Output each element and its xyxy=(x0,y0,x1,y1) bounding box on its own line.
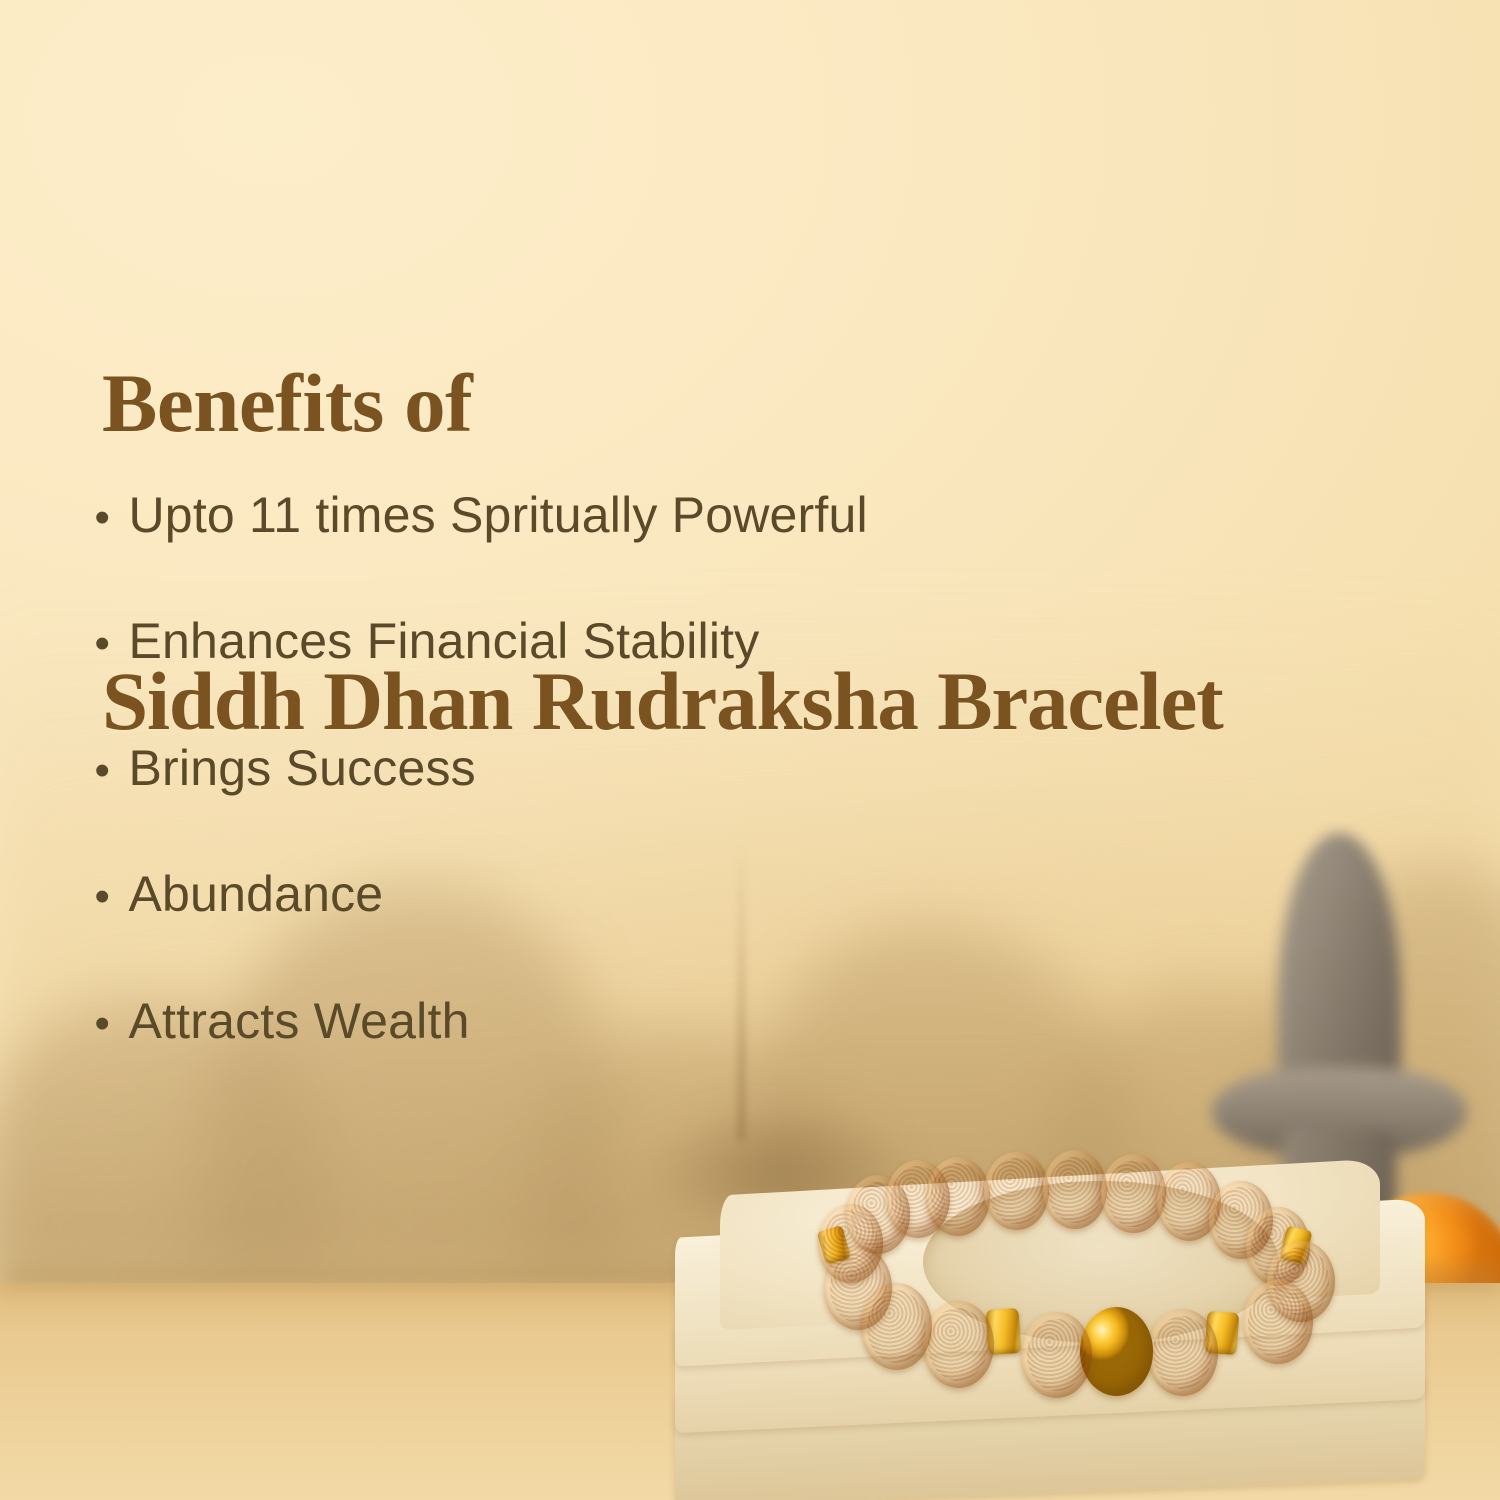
poster-canvas: Benefits of Siddh Dhan Rudraksha Bracele… xyxy=(0,0,1500,1500)
benefit-label: Brings Success xyxy=(129,742,476,795)
list-item: • Attracts Wealth xyxy=(95,995,868,1048)
rudraksha-bead xyxy=(1043,1150,1108,1229)
list-item: • Abundance xyxy=(95,868,868,921)
benefit-label: Abundance xyxy=(129,868,384,921)
bullet-icon: • xyxy=(95,622,129,666)
page-title-line-1: Benefits of xyxy=(102,354,1223,454)
bullet-icon: • xyxy=(95,496,129,540)
rudraksha-bead xyxy=(1147,1309,1218,1396)
list-item: • Enhances Financial Stability xyxy=(95,615,868,668)
bullet-icon: • xyxy=(95,1002,129,1046)
list-item: • Brings Success xyxy=(95,742,868,795)
rudraksha-bead xyxy=(1243,1280,1314,1364)
benefit-label: Upto 11 times Spritually Powerful xyxy=(129,489,868,542)
rudraksha-bead xyxy=(984,1152,1049,1231)
benefits-list: • Upto 11 times Spritually Powerful • En… xyxy=(95,489,868,1048)
rudraksha-bead xyxy=(1101,1154,1166,1233)
list-item: • Upto 11 times Spritually Powerful xyxy=(95,489,868,542)
bullet-icon: • xyxy=(95,875,129,919)
benefit-label: Enhances Financial Stability xyxy=(129,615,760,668)
rudraksha-bead xyxy=(1021,1312,1092,1399)
rudraksha-bead xyxy=(923,1301,994,1388)
lingam-dome xyxy=(1278,833,1400,1103)
rudraksha-bracelet xyxy=(788,1160,1403,1423)
benefit-label: Attracts Wealth xyxy=(129,995,470,1048)
bullet-icon: • xyxy=(95,749,129,793)
